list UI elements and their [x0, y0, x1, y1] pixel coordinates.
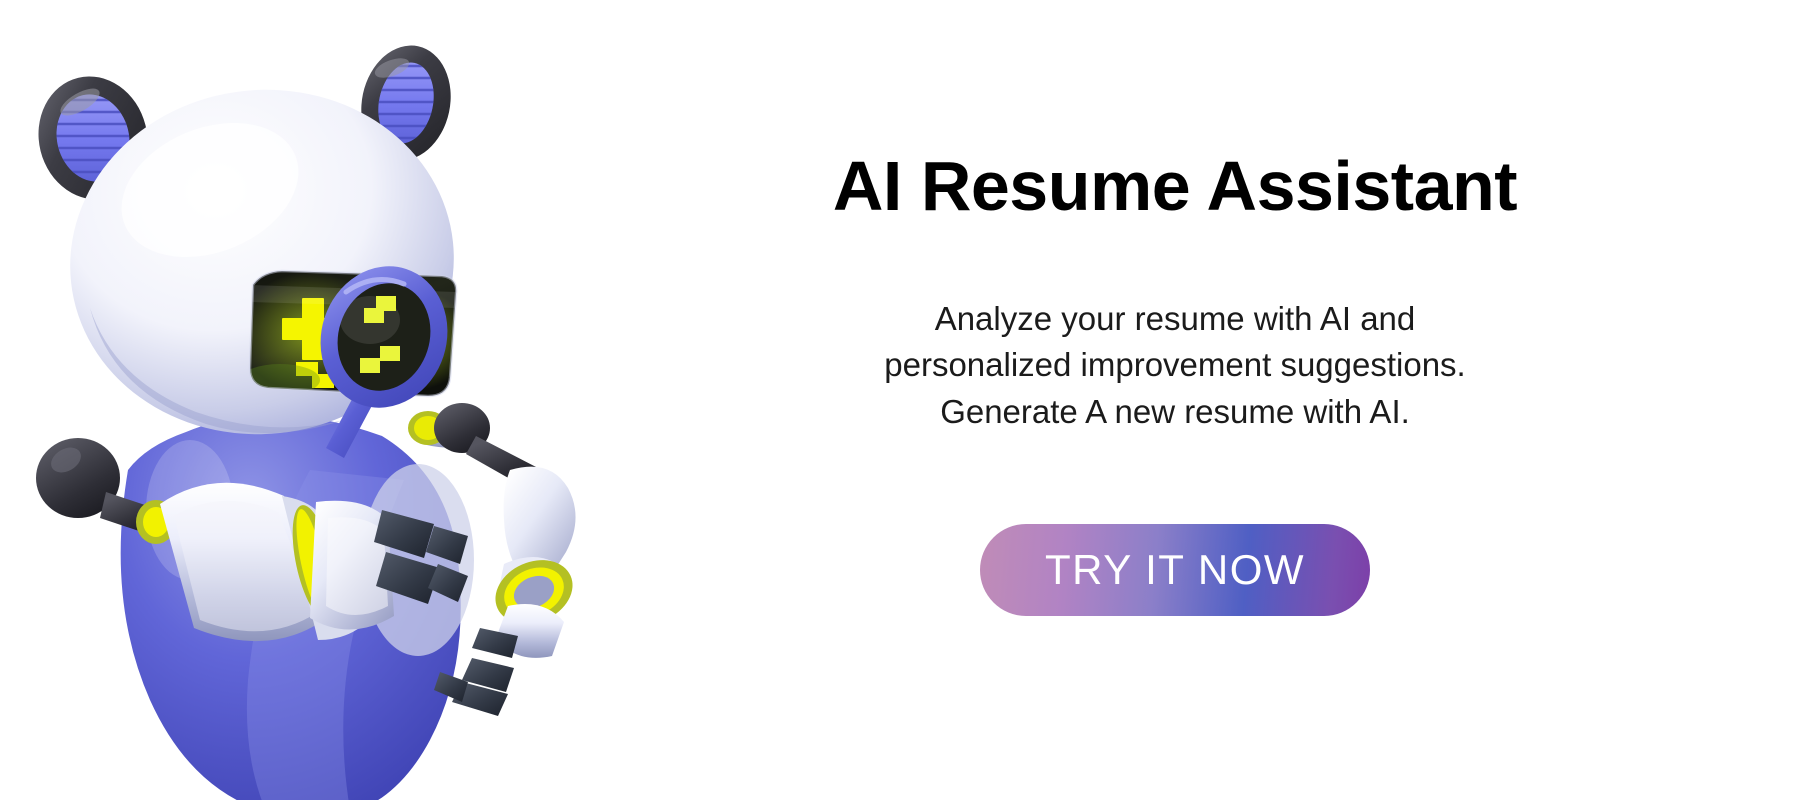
subtitle-line-3: Generate A new resume with AI.: [884, 389, 1465, 436]
page-title: AI Resume Assistant: [833, 150, 1517, 224]
hero-subtitle: Analyze your resume with AI and personal…: [884, 296, 1465, 437]
subtitle-line-2: personalized improvement suggestions.: [884, 342, 1465, 389]
illustration-column: [0, 0, 640, 800]
robot-illustration: [10, 40, 630, 800]
try-it-now-button[interactable]: TRY IT NOW: [980, 524, 1370, 616]
content-column: AI Resume Assistant Analyze your resume …: [640, 0, 1800, 800]
hero-section: AI Resume Assistant Analyze your resume …: [0, 0, 1800, 800]
subtitle-line-1: Analyze your resume with AI and: [884, 296, 1465, 343]
ai-robot-icon: [10, 40, 630, 800]
cta-container: TRY IT NOW: [680, 524, 1670, 616]
